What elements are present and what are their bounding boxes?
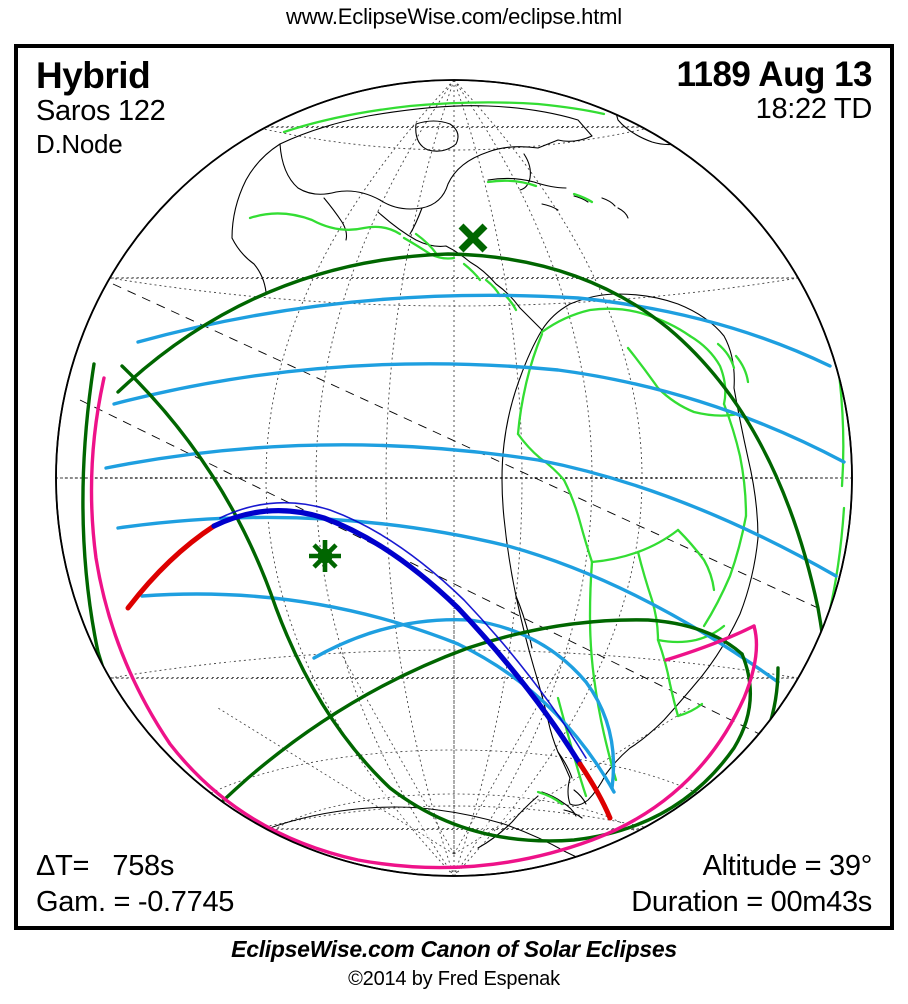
gamma-label: Gam. = -0.7745 (36, 885, 234, 920)
eclipse-date-label: 1189 Aug 13 (676, 56, 872, 93)
saros-label: Saros 122 (36, 95, 166, 129)
globe-map (18, 48, 890, 926)
node-label: D.Node (36, 129, 166, 159)
duration-label: Duration = 00m43s (631, 885, 872, 920)
eclipse-type-label: Hybrid (36, 56, 166, 95)
caption-title: EclipseWise.com Canon of Solar Eclipses (0, 936, 908, 963)
eclipse-time-label: 18:22 TD (676, 93, 872, 127)
header-left-block: Hybrid Saros 122 D.Node (36, 56, 166, 159)
eclipse-map-page: www.EclipseWise.com/eclipse.html (0, 0, 908, 1004)
altitude-label: Altitude = 39° (631, 849, 872, 884)
globe-svg (18, 48, 890, 926)
footer-right-block: Altitude = 39° Duration = 00m43s (631, 849, 872, 920)
caption-copyright: ©2014 by Fred Espenak (0, 968, 908, 991)
eclipse-map-panel: Hybrid Saros 122 D.Node 1189 Aug 13 18:2… (14, 44, 894, 930)
source-url-label: www.EclipseWise.com/eclipse.html (0, 4, 908, 30)
header-right-block: 1189 Aug 13 18:22 TD (676, 56, 872, 127)
delta-t-label: ΔT= 758s (36, 849, 234, 884)
footer-left-block: ΔT= 758s Gam. = -0.7745 (36, 849, 234, 920)
